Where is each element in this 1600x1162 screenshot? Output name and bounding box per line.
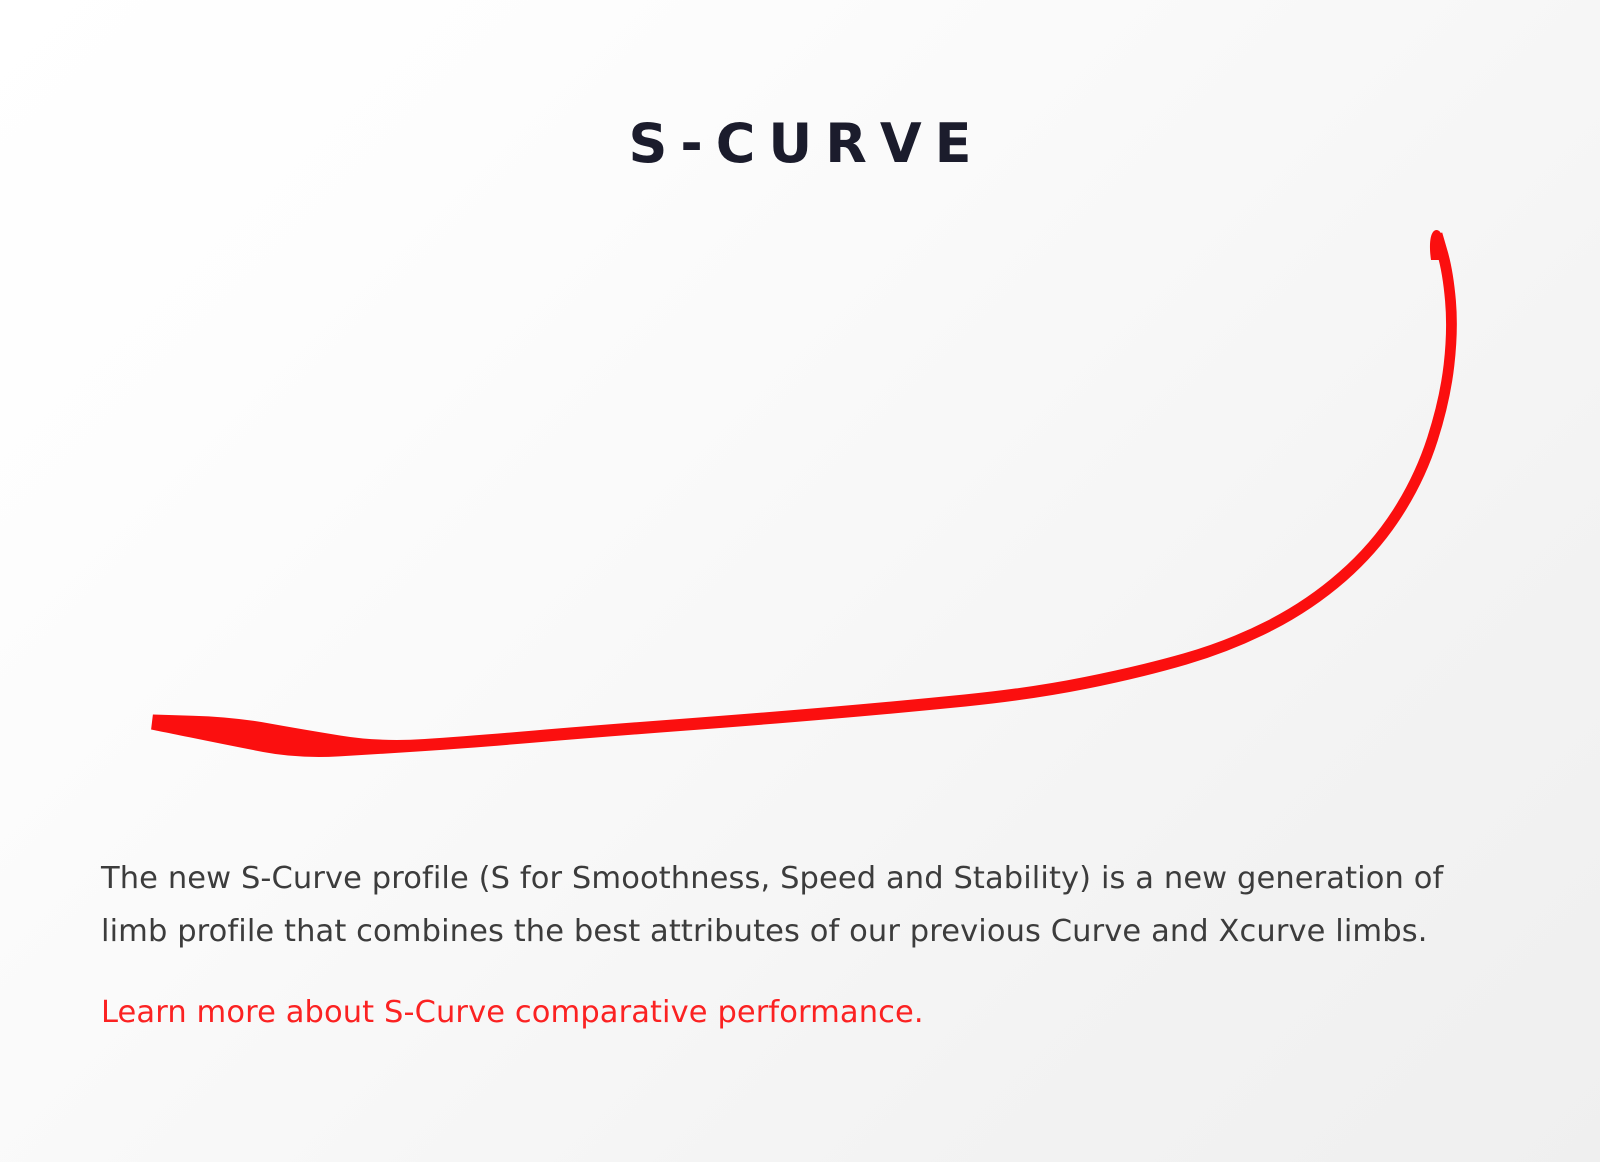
description-paragraph: The new S-Curve profile (S for Smoothnes… [101, 852, 1461, 958]
s-curve-graphic [0, 180, 1600, 800]
learn-more-link[interactable]: Learn more about S-Curve comparative per… [101, 995, 924, 1030]
s-curve-tip-cap [1430, 230, 1442, 260]
s-curve-path [151, 233, 1457, 757]
s-curve-svg [0, 180, 1600, 800]
s-curve-page: S-CURVE The new S-Curve profile (S for S… [0, 0, 1600, 1162]
page-title: S-CURVE [0, 114, 1600, 173]
copy-block: The new S-Curve profile (S for Smoothnes… [101, 852, 1461, 1039]
learn-more-row: Learn more about S-Curve comparative per… [101, 986, 1461, 1039]
